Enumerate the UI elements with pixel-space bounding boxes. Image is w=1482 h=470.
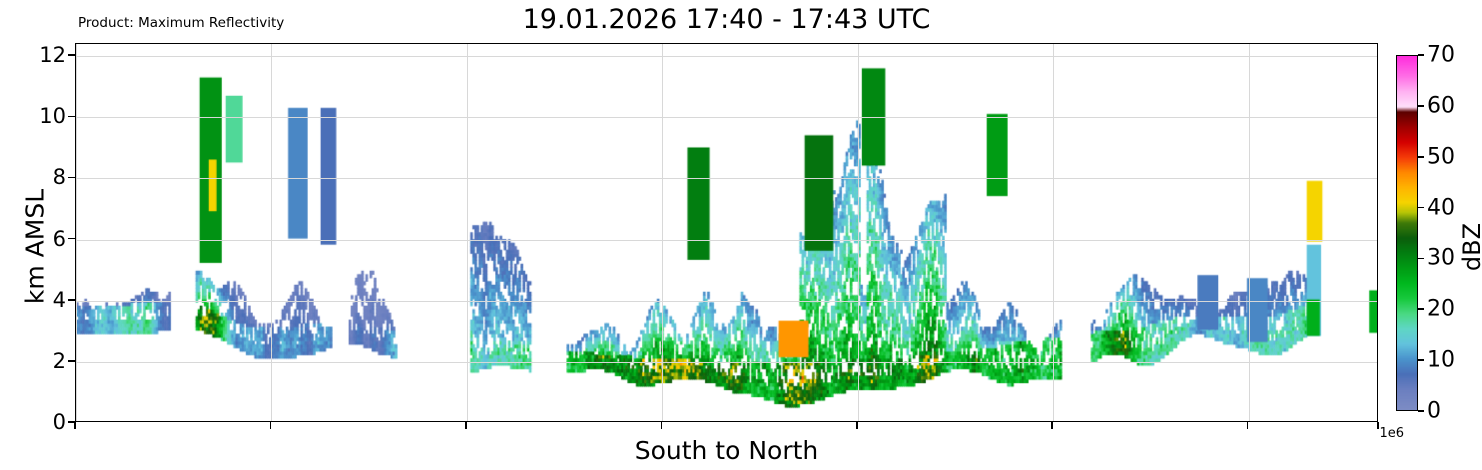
reflectivity-heatmap [76,44,1377,421]
colorbar-tick-label-0: 0 [1427,399,1441,424]
colorbar-tick-mark-1 [1418,359,1424,361]
colorbar-gradient [1396,55,1418,411]
colorbar-tick-mark-5 [1418,156,1424,158]
x-tick-mark-5 [1051,422,1053,429]
colorbar-tick-label-1: 10 [1427,348,1455,373]
y-tick-mark-6 [68,54,75,56]
x-tick-mark-1 [270,422,272,429]
y-tick-label-6: 12 [39,43,66,67]
y-tick-label-2: 4 [53,288,66,312]
y-tick-label-4: 8 [53,165,66,189]
y-axis-label: km AMSL [21,117,50,377]
x-axis-exponent: 1e6 [1379,426,1404,441]
colorbar-tick-label-3: 30 [1427,246,1455,271]
colorbar-tick-label-2: 20 [1427,297,1455,322]
y-tick-mark-1 [68,360,75,362]
plot-area [75,43,1378,422]
x-tick-mark-4 [856,422,858,429]
colorbar-tick-label-4: 40 [1427,195,1455,220]
colorbar-tick-mark-0 [1418,410,1424,412]
colorbar-tick-mark-3 [1418,258,1424,260]
x-tick-mark-6 [1247,422,1249,429]
y-tick-mark-5 [68,116,75,118]
colorbar-tick-mark-2 [1418,308,1424,310]
x-tick-mark-2 [465,422,467,429]
radar-curtain-figure: 19.01.2026 17:40 - 17:43 UTC Product: Ma… [0,0,1482,470]
colorbar-label: dBZ [1458,147,1482,347]
y-tick-mark-3 [68,238,75,240]
x-tick-mark-3 [661,422,663,429]
colorbar-tick-label-7: 70 [1427,43,1455,68]
colorbar-tick-mark-6 [1418,105,1424,107]
y-tick-label-1: 2 [53,349,66,373]
colorbar-tick-mark-7 [1418,54,1424,56]
x-axis-label: South to North [75,436,1378,465]
y-tick-mark-2 [68,299,75,301]
y-tick-label-3: 6 [53,227,66,251]
colorbar-tick-label-6: 60 [1427,93,1455,118]
y-tick-label-0: 0 [53,410,66,434]
colorbar-tick-mark-4 [1418,207,1424,209]
colorbar [1396,55,1418,411]
y-tick-mark-4 [68,177,75,179]
colorbar-tick-label-5: 50 [1427,144,1455,169]
x-tick-mark-0 [74,422,76,429]
product-annotation: Product: Maximum Reflectivity [78,15,284,31]
